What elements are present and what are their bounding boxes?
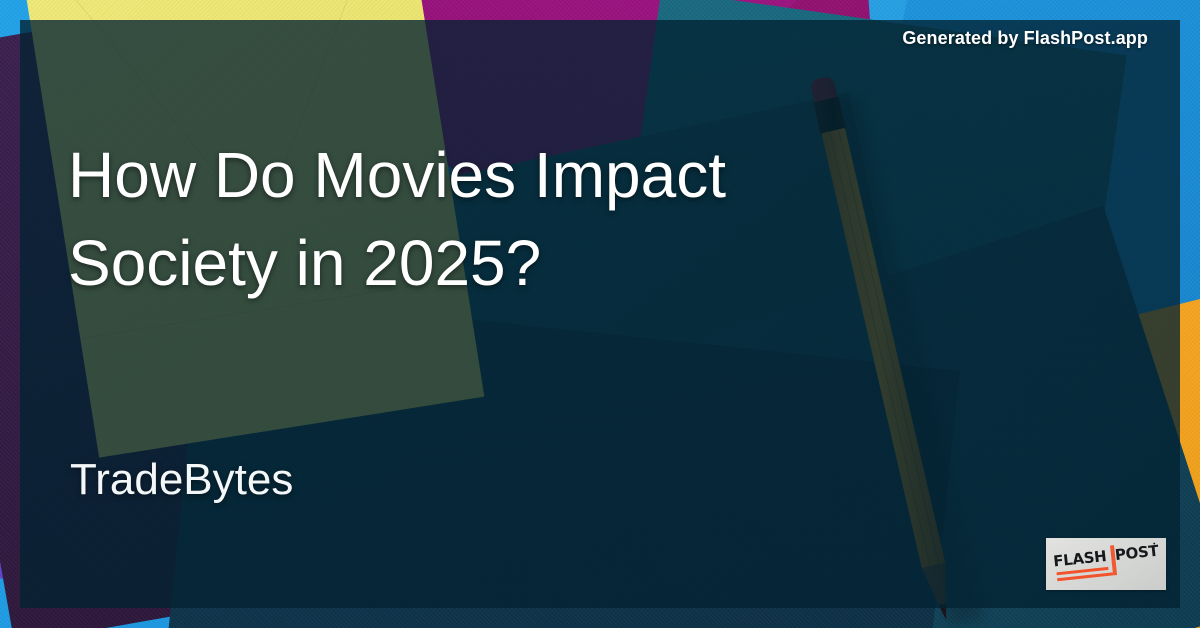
generated-by-label: Generated by FlashPost.app: [902, 28, 1148, 49]
page-title: How Do Movies Impact Society in 2025?: [68, 131, 928, 307]
card-content: Generated by FlashPost.app How Do Movies…: [0, 0, 1200, 628]
social-share-card: Generated by FlashPost.app How Do Movies…: [0, 0, 1200, 628]
flashpost-logo[interactable]: FLASH POST •: [1046, 538, 1166, 590]
flashpost-logo-inner: FLASH POST •: [1052, 542, 1161, 589]
byline-author: TradeBytes: [70, 455, 293, 505]
